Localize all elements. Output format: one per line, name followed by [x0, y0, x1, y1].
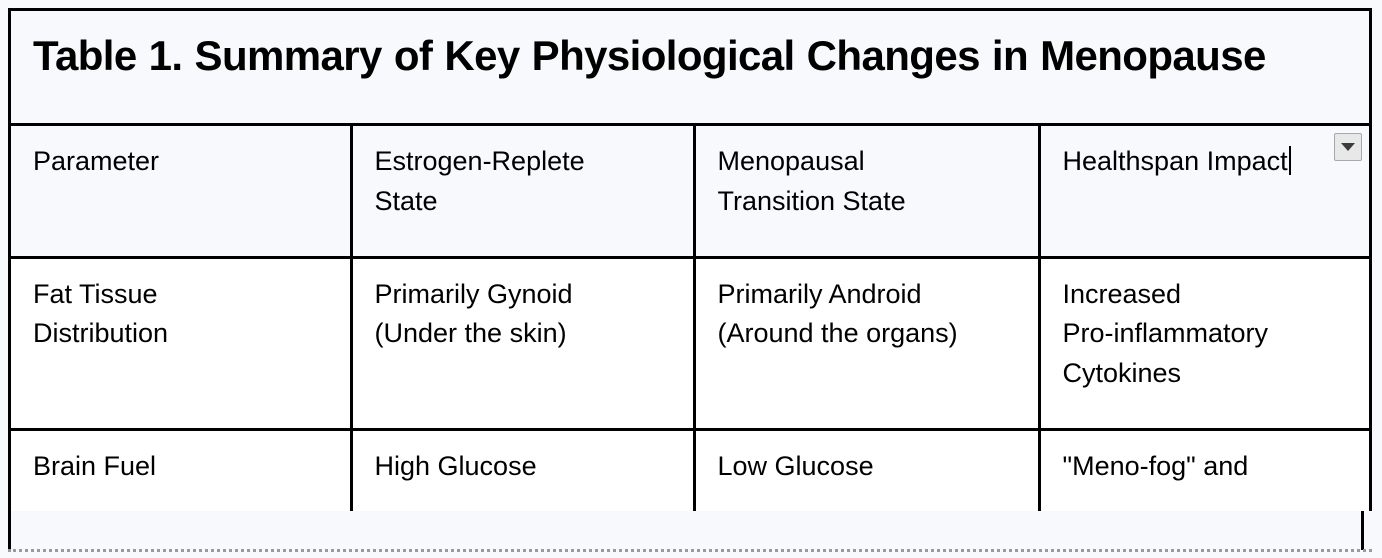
table-body: Fat Tissue Distribution Primarily Gynoid…: [11, 257, 1369, 511]
table-caption: Table 1. Summary of Key Physiological Ch…: [11, 11, 1369, 126]
column-header-healthspan-impact[interactable]: Healthspan Impact: [1039, 126, 1369, 257]
cell-line: Brain Fuel: [33, 447, 330, 487]
column-header-menopausal-transition-state[interactable]: Menopausal Transition State: [694, 126, 1039, 257]
column-header-estrogen-replete-state[interactable]: Estrogen-Replete State: [351, 126, 694, 257]
table-title: Table 1. Summary of Key Physiological Ch…: [33, 25, 1323, 87]
table-row: Fat Tissue Distribution Primarily Gynoid…: [11, 257, 1369, 429]
table-header: Parameter Estrogen-Replete State Menopau…: [11, 126, 1369, 257]
table-container: Table 1. Summary of Key Physiological Ch…: [8, 8, 1372, 511]
text-cursor-caret: [1289, 146, 1291, 175]
cell-line: Low Glucose: [718, 447, 1018, 487]
cell-line: High Glucose: [375, 447, 673, 487]
header-line: Menopausal: [718, 142, 1018, 182]
cell-line: Fat Tissue: [33, 275, 330, 315]
cell-estrogen-replete-state[interactable]: Primarily Gynoid (Under the skin): [351, 257, 694, 429]
table-row: Brain Fuel High Glucose Low Glucose "Men…: [11, 429, 1369, 511]
page-break-indicator: [8, 549, 1372, 552]
cell-parameter[interactable]: Fat Tissue Distribution: [11, 257, 351, 429]
header-line: Parameter: [33, 142, 330, 182]
header-row: Parameter Estrogen-Replete State Menopau…: [11, 126, 1369, 257]
cell-parameter[interactable]: Brain Fuel: [11, 429, 351, 511]
cell-menopausal-transition-state[interactable]: Low Glucose: [694, 429, 1039, 511]
cell-menopausal-transition-state[interactable]: Primarily Android (Around the organs): [694, 257, 1039, 429]
cell-line: Distribution: [33, 314, 330, 354]
cell-line: Increased: [1063, 275, 1350, 315]
column-header-parameter[interactable]: Parameter: [11, 126, 351, 257]
header-label-with-caret: Healthspan Impact: [1063, 142, 1291, 182]
cell-estrogen-replete-state[interactable]: High Glucose: [351, 429, 694, 511]
cell-healthspan-impact[interactable]: Increased Pro-inflammatory Cytokines: [1039, 257, 1369, 429]
physiological-changes-table: Parameter Estrogen-Replete State Menopau…: [11, 126, 1369, 511]
cell-line: Primarily Gynoid: [375, 275, 673, 315]
filter-dropdown-button[interactable]: [1334, 133, 1362, 161]
cell-healthspan-impact[interactable]: "Meno-fog" and: [1039, 429, 1369, 511]
header-line: Healthspan Impact: [1063, 146, 1288, 176]
header-line: State: [375, 182, 673, 222]
cell-line: "Meno-fog" and: [1063, 447, 1350, 487]
cell-line: Primarily Android: [718, 275, 1018, 315]
chevron-down-icon: [1341, 143, 1355, 151]
cell-line: (Around the organs): [718, 314, 1018, 354]
cell-line: (Under the skin): [375, 314, 673, 354]
cell-line: Cytokines: [1063, 354, 1350, 394]
cell-line: Pro-inflammatory: [1063, 314, 1350, 354]
header-line: Estrogen-Replete: [375, 142, 673, 182]
document-surface: Table 1. Summary of Key Physiological Ch…: [0, 0, 1382, 558]
header-line: Transition State: [718, 182, 1018, 222]
